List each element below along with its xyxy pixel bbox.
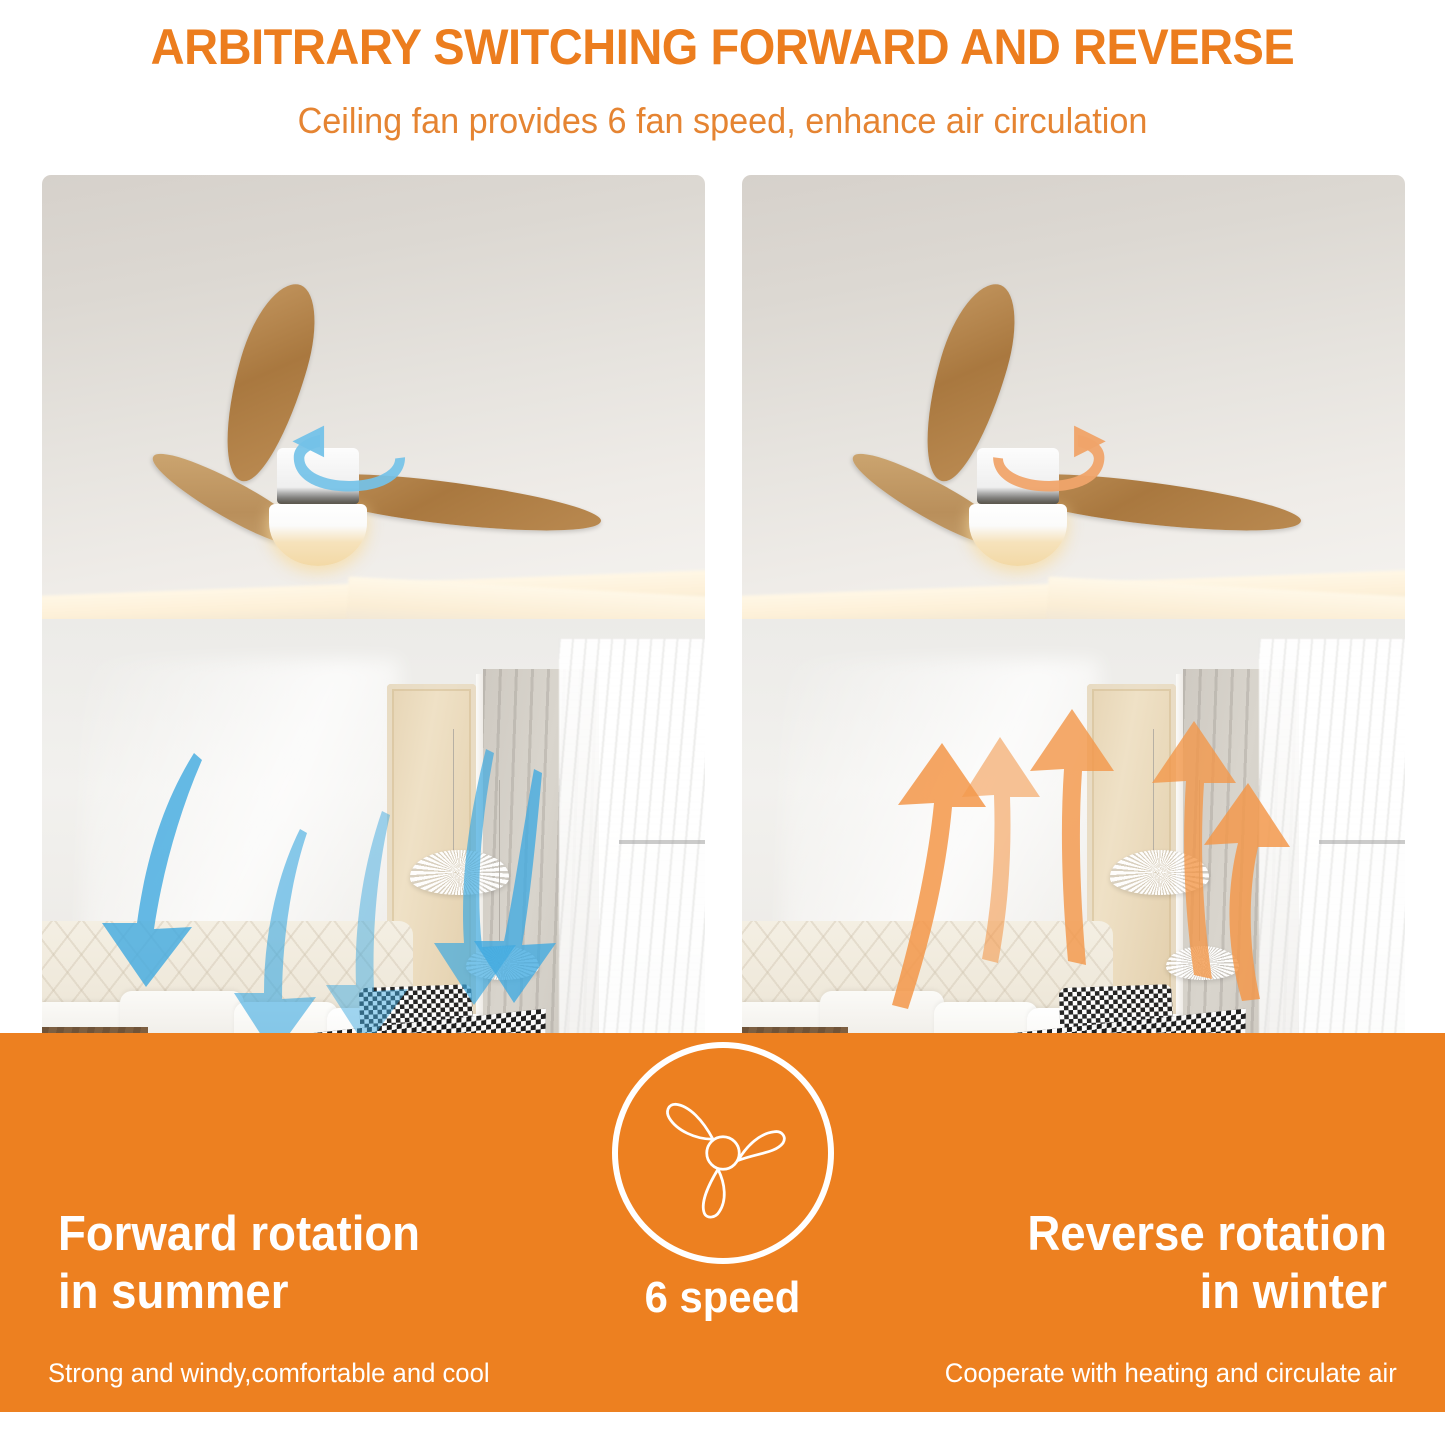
- pendant-cord: [453, 729, 454, 850]
- pendant-lamp-lower: [1166, 946, 1239, 980]
- window-frame: [1319, 840, 1405, 844]
- pendant-lamp-lower: [466, 946, 539, 980]
- caption-line-1: Reverse rotation: [903, 1206, 1387, 1264]
- speed-label: 6 speed: [36, 1273, 1409, 1323]
- sheer-curtain: [1259, 639, 1405, 1062]
- bedroom-scene-left: [42, 175, 705, 1183]
- pendant-cord: [1153, 729, 1154, 850]
- product-feature-page: ARBITRARY SWITCHING FORWARD AND REVERSE …: [0, 0, 1445, 1445]
- subcaption-reverse: Cooperate with heating and circulate air: [945, 1358, 1397, 1389]
- pendant-cord-secondary: [499, 780, 500, 941]
- photo-panel-forward-rotation: [42, 175, 705, 1183]
- window-frame: [619, 840, 705, 844]
- ceiling-fan-right: [822, 346, 1339, 628]
- pendant-cord-secondary: [1199, 780, 1200, 941]
- circular-arrow-left-icon: [256, 423, 442, 502]
- photo-panel-reverse-rotation: [742, 175, 1405, 1183]
- fan-led-light: [269, 504, 367, 566]
- pendant-lamp-upper: [410, 850, 509, 894]
- fan-blade-icon: [648, 1078, 798, 1228]
- bedroom-scene-right: [742, 175, 1405, 1183]
- page-subtitle: Ceiling fan provides 6 fan speed, enhanc…: [36, 100, 1409, 142]
- caption-line-1: Forward rotation: [58, 1206, 542, 1264]
- circular-arrow-right-icon: [956, 423, 1142, 502]
- page-title: ARBITRARY SWITCHING FORWARD AND REVERSE: [43, 18, 1401, 76]
- sheer-curtain: [559, 639, 705, 1062]
- fan-led-light: [969, 504, 1067, 566]
- pendant-lamp-upper: [1110, 850, 1209, 894]
- ceiling-fan-left: [122, 346, 639, 628]
- fan-speed-badge: [612, 1042, 834, 1264]
- subcaption-forward: Strong and windy,comfortable and cool: [48, 1358, 490, 1389]
